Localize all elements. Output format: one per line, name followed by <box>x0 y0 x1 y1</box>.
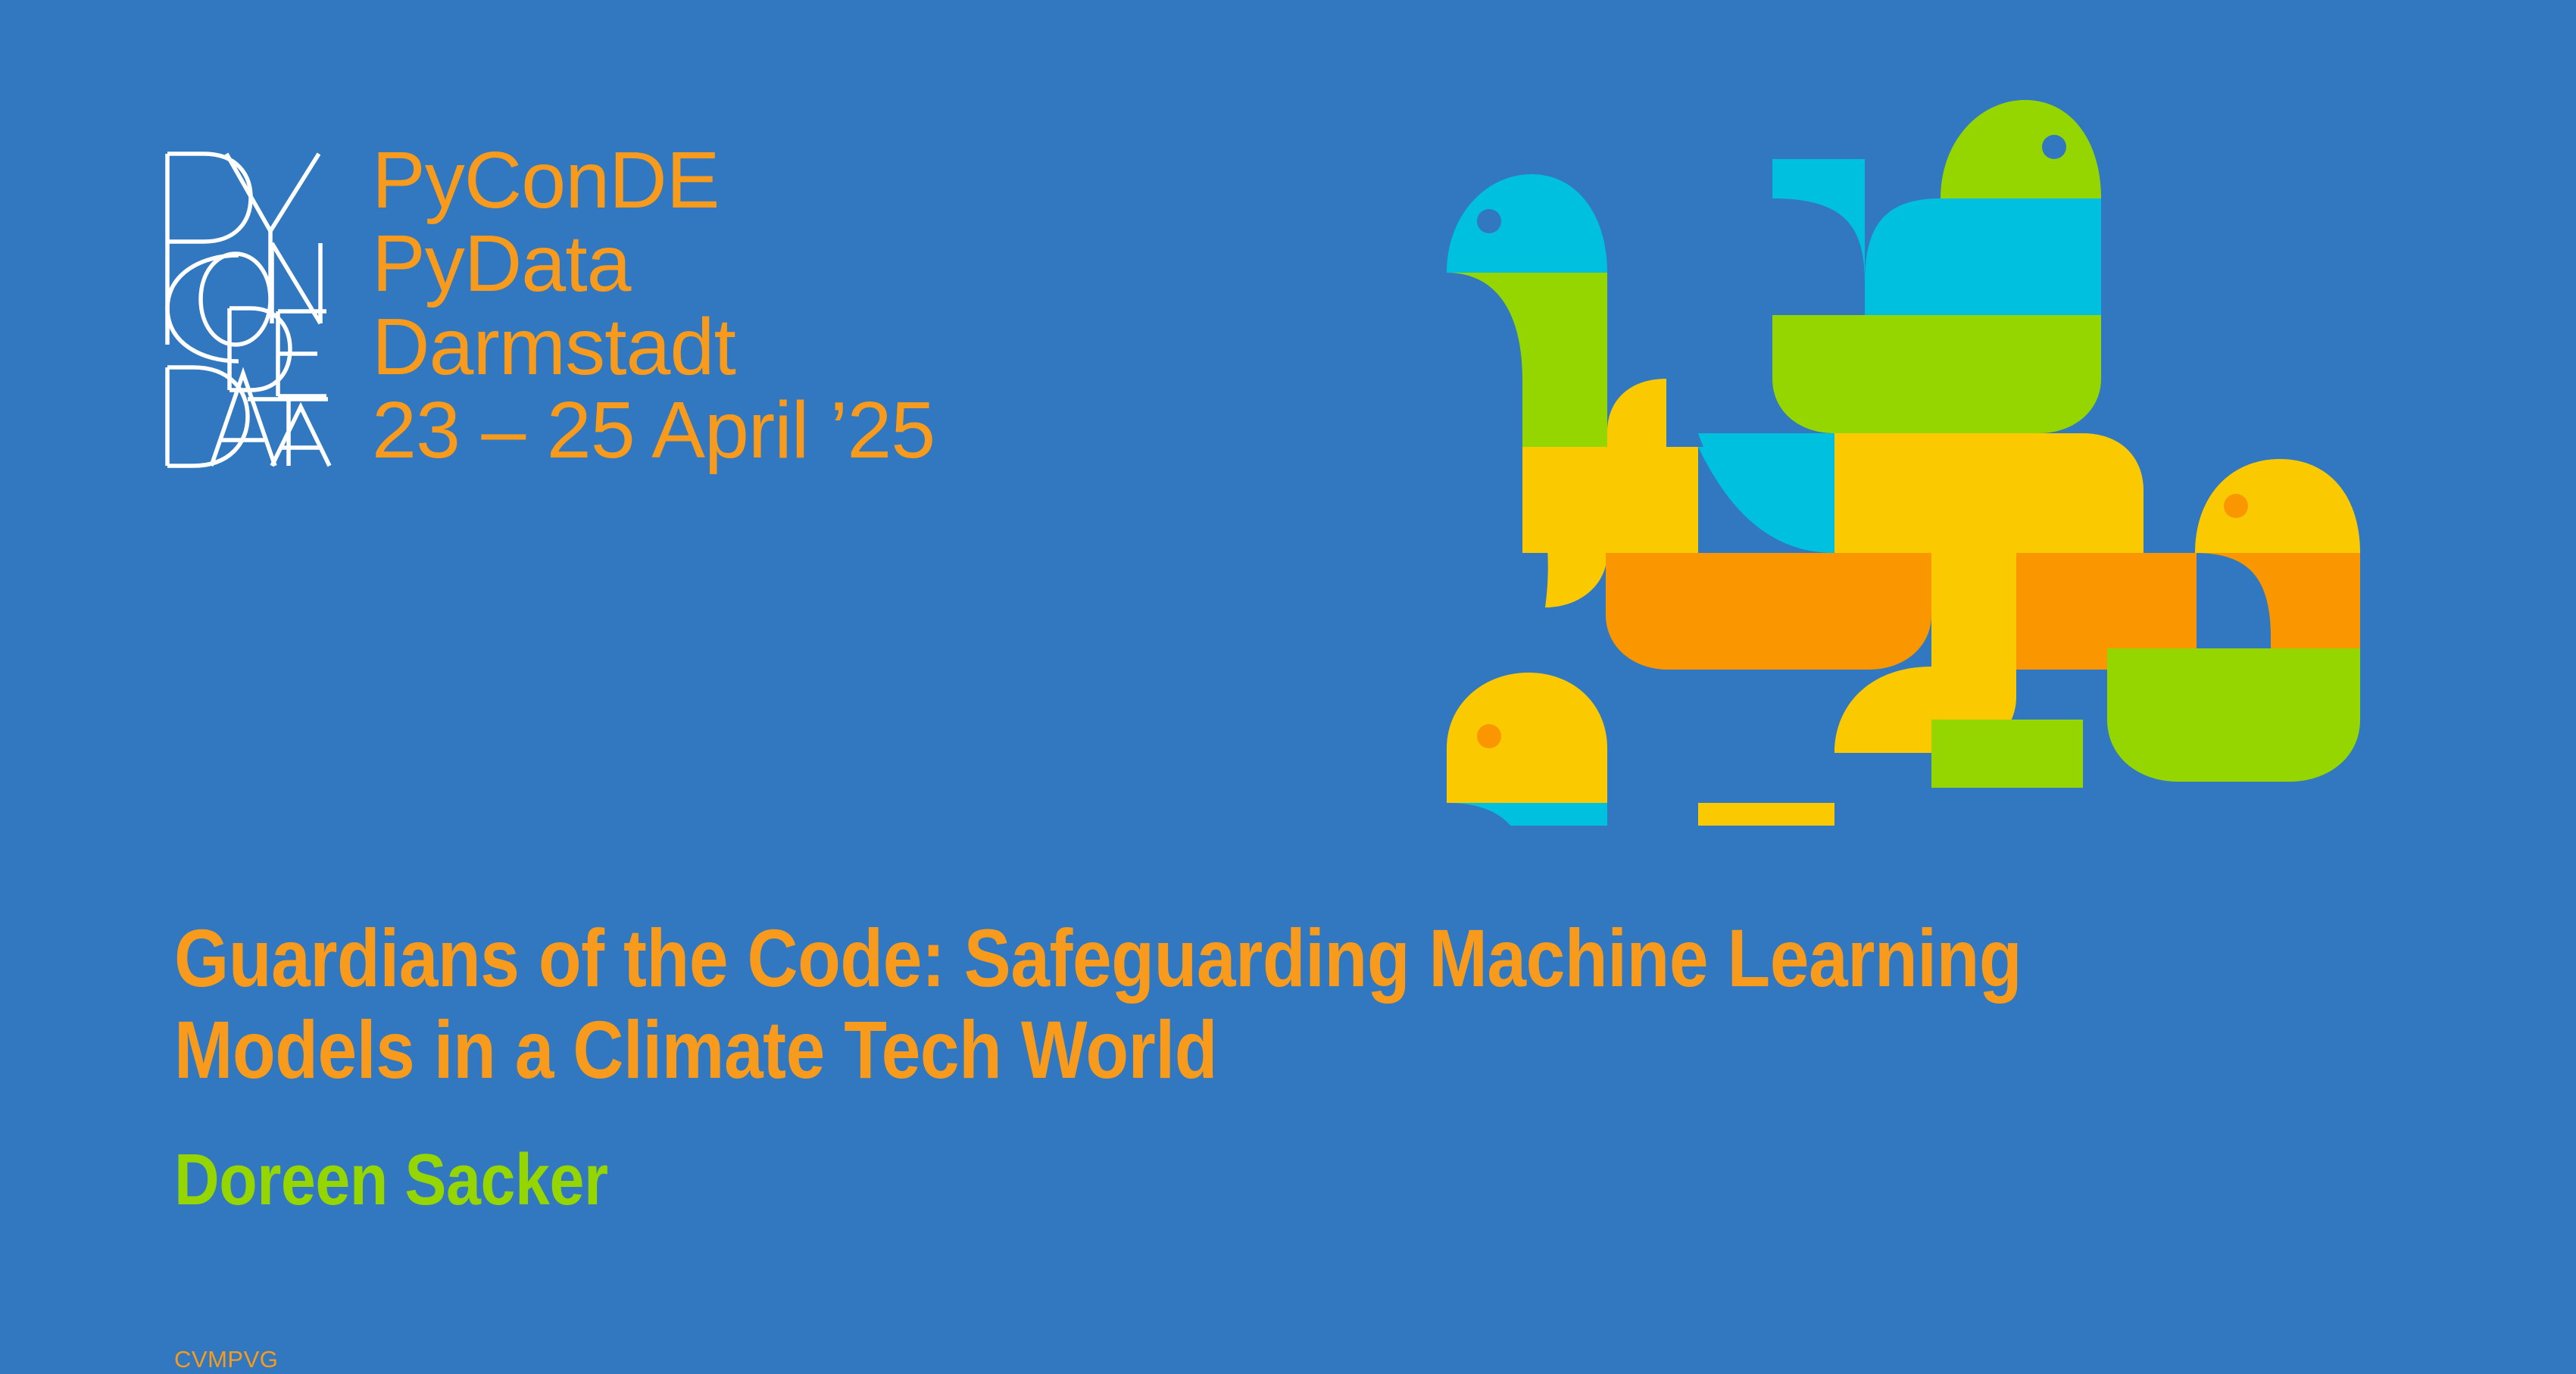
snake-green-body-cyan <box>1941 198 2101 315</box>
talk-title: Guardians of the Code: Safeguarding Mach… <box>174 913 2063 1096</box>
snake-green-body-green <box>1772 315 2101 433</box>
snake-eye-green <box>2042 135 2066 159</box>
snake-eye-yellow-lower-left <box>1477 724 1501 748</box>
snake-eye-yellow-right <box>2224 494 2248 518</box>
talk-info-block: Guardians of the Code: Safeguarding Mach… <box>174 913 2371 1220</box>
conference-name-block: PyConDE PyData Darmstadt 23 – 25 April ’… <box>372 140 935 473</box>
pyconde-pydata-monogram-icon <box>157 140 339 473</box>
snake-green-neck-left <box>1865 198 1941 315</box>
snake-lower-segments <box>1528 803 2128 826</box>
body-segment-cyan-hook <box>1698 447 1834 553</box>
snake-head-cyan <box>1447 174 1607 273</box>
brand-line-pydata: PyData <box>372 223 935 307</box>
body-segment-yellow-mid <box>1834 433 2144 553</box>
slide-footer-code: CVMPVG <box>174 1346 278 1373</box>
body-segment-yellow-left <box>1522 447 1698 553</box>
snake-eye-cyan <box>1477 209 1501 233</box>
lower-seg-yellow <box>1698 803 1834 826</box>
brand-line-dates: 23 – 25 April ’25 <box>372 390 935 473</box>
brand-line-pyconde: PyConDE <box>372 140 935 223</box>
snake-cyan-body-1 <box>1522 379 1607 447</box>
snake-head-green <box>1941 100 2101 198</box>
snake-yellow-lower-left <box>1447 673 1607 826</box>
snake-head-yellow-lower-left <box>1447 673 1607 803</box>
snake-yellow-right-tail <box>2107 648 2360 782</box>
brand-line-city: Darmstadt <box>372 307 935 390</box>
body-segment-orange-left <box>1606 553 1931 670</box>
snake-head-yellow-right <box>2195 459 2360 553</box>
speaker-name: Doreen Sacker <box>174 1140 2063 1220</box>
title-slide: PyConDE PyData Darmstadt 23 – 25 April ’… <box>0 0 2576 1374</box>
body-segment-green-center <box>1931 720 2083 788</box>
pyconde-snakes-illustration <box>1401 23 2409 826</box>
snake-yellow-right-bridge <box>2045 553 2197 648</box>
snake-green-tail-upper <box>1772 159 1865 282</box>
conference-branding: PyConDE PyData Darmstadt 23 – 25 April ’… <box>157 140 935 473</box>
